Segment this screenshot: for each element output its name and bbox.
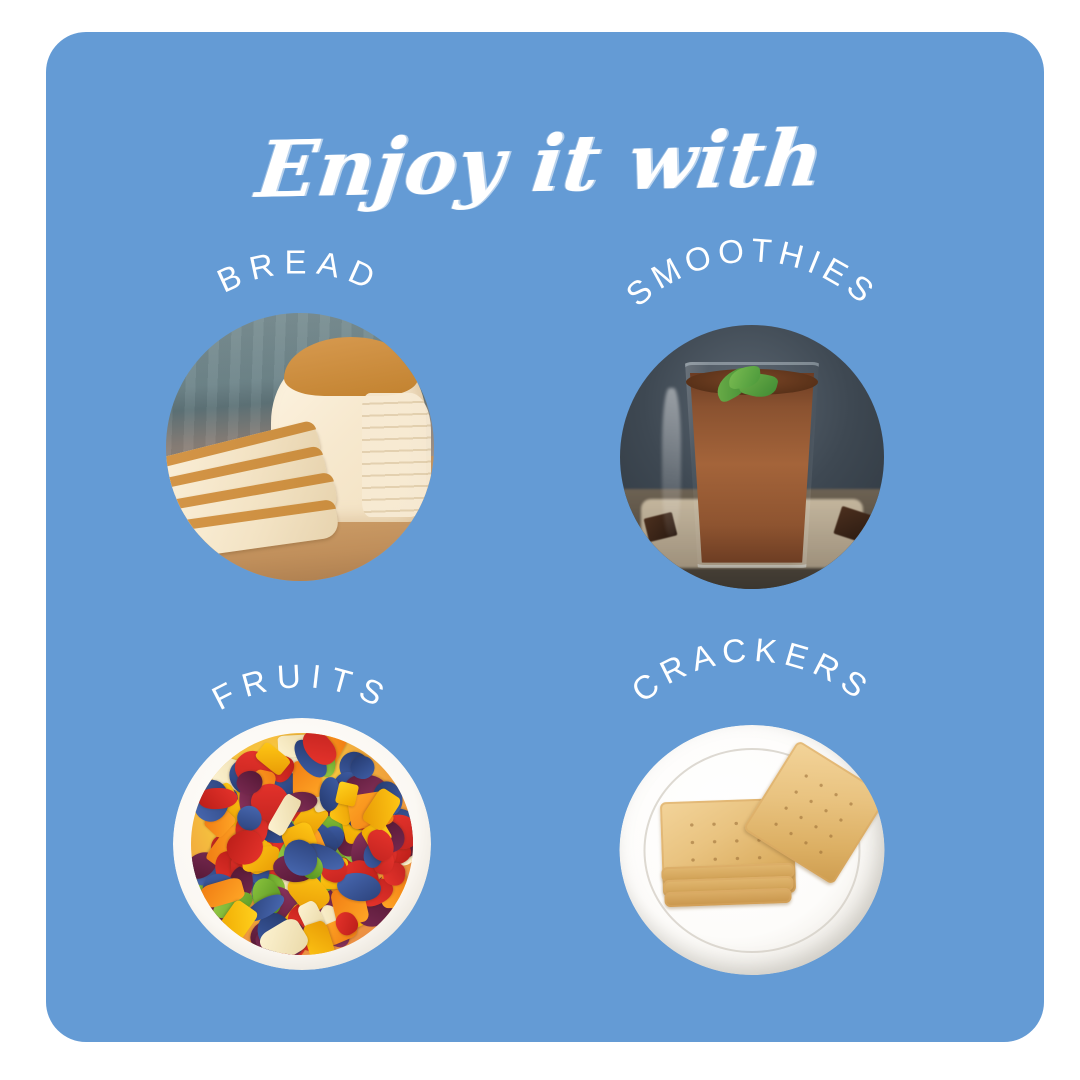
svg-text:FRUITS: FRUITS [206,657,398,717]
item-fruits[interactable]: FRUITS [132,652,472,992]
item-crackers[interactable]: CRACKERS [582,658,922,998]
item-image-smoothies[interactable] [620,325,884,589]
item-image-fruits[interactable] [173,718,431,970]
svg-text:BREAD: BREAD [211,243,388,299]
poster-canvas: Enjoy it with BREAD [0,0,1080,1080]
item-bread[interactable]: BREAD [130,248,470,588]
item-image-crackers[interactable] [620,725,885,975]
item-label-bread: BREAD [211,243,388,299]
item-image-bread[interactable] [166,313,434,581]
item-smoothies[interactable]: SMOOTHIES [582,258,922,598]
item-label-fruits: FRUITS [206,657,398,717]
